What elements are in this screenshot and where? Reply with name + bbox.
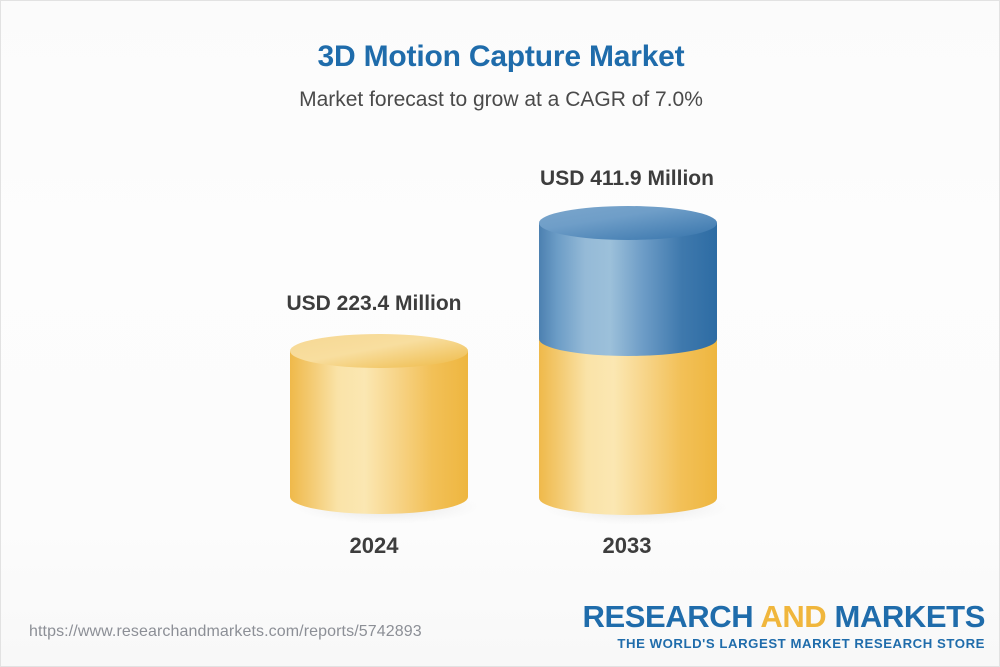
infographic-card: 3D Motion Capture Market Market forecast… bbox=[0, 0, 1000, 667]
logo-word-research: RESEARCH bbox=[582, 599, 753, 634]
logo-tagline: THE WORLD'S LARGEST MARKET RESEARCH STOR… bbox=[582, 637, 985, 650]
research-and-markets-logo[interactable]: RESEARCH AND MARKETS THE WORLD'S LARGEST… bbox=[582, 601, 985, 650]
logo-word-and: AND bbox=[760, 599, 826, 634]
year-label-2033: 2033 bbox=[467, 532, 787, 560]
value-label-2024: USD 223.4 Million bbox=[214, 291, 534, 317]
value-label-2033: USD 411.9 Million bbox=[467, 166, 787, 192]
logo-word-markets: MARKETS bbox=[835, 599, 985, 634]
chart-plot-area: USD 223.4 Million bbox=[1, 1, 1000, 667]
logo-wordmark: RESEARCH AND MARKETS bbox=[582, 601, 985, 632]
report-url[interactable]: https://www.researchandmarkets.com/repor… bbox=[29, 623, 422, 641]
cylinder-bar-2024 bbox=[284, 329, 474, 524]
cylinder-bar-2033 bbox=[532, 199, 724, 525]
